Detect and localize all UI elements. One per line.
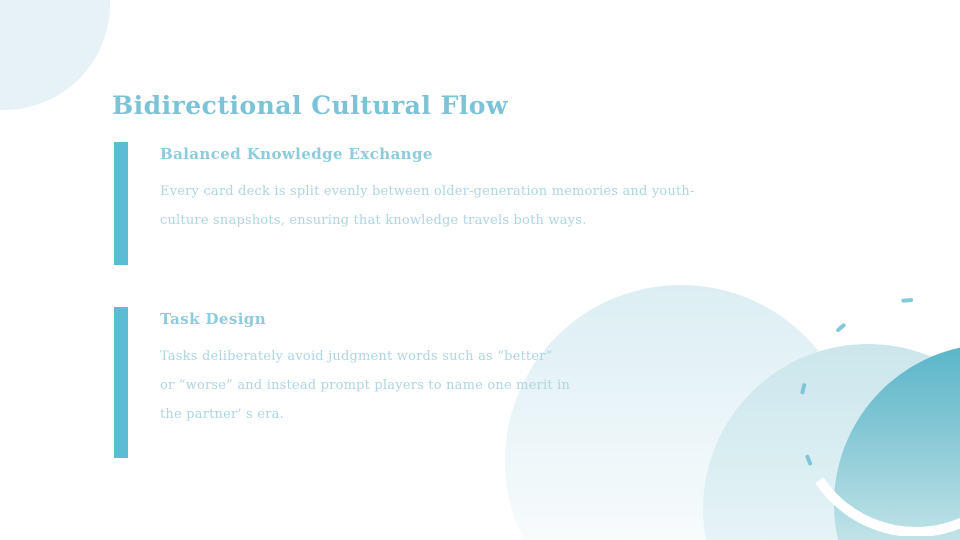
accent-bar xyxy=(114,142,128,265)
section-text: Every card deck is split evenly between … xyxy=(160,177,860,235)
slide-canvas: Bidirectional Cultural Flow Balanced Kno… xyxy=(0,0,960,540)
section-text: Tasks deliberately avoid judgment words … xyxy=(160,342,860,429)
section-heading: Task Design xyxy=(160,309,860,329)
corner-arc-decoration xyxy=(0,0,110,110)
accent-bar xyxy=(114,307,128,458)
decoration-layer xyxy=(0,0,960,540)
section-heading: Balanced Knowledge Exchange xyxy=(160,144,860,164)
page-title: Bidirectional Cultural Flow xyxy=(112,91,508,120)
section-body: Task Design Tasks deliberately avoid jud… xyxy=(160,307,860,429)
section-body: Balanced Knowledge Exchange Every card d… xyxy=(160,142,860,235)
